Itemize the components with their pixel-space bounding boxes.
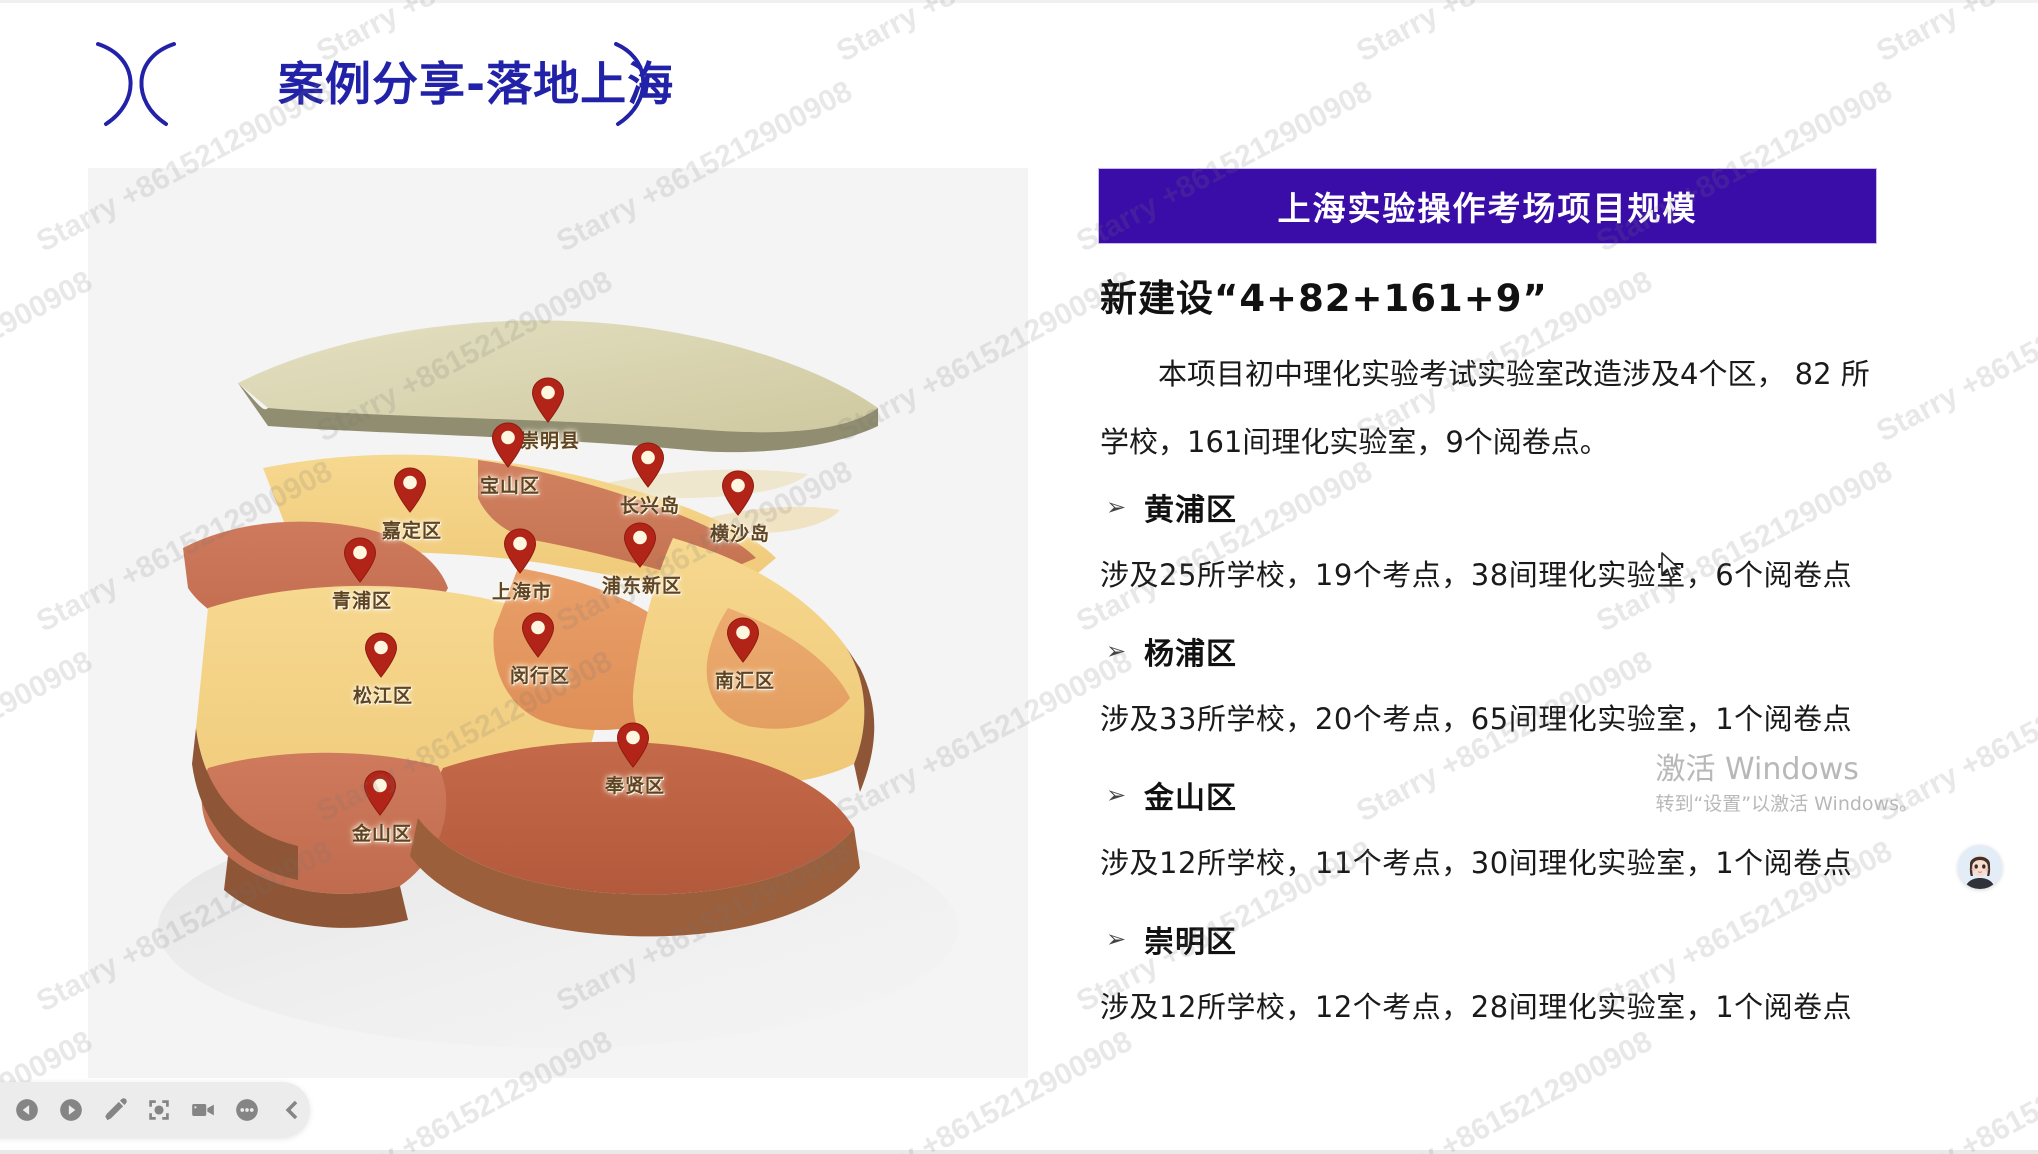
location-pin-icon bbox=[363, 770, 397, 816]
x-decoration-icon bbox=[88, 40, 198, 128]
map-label-南汇区: 南汇区 bbox=[715, 666, 775, 693]
section-banner: 上海实验操作考场项目规模 bbox=[1098, 168, 1877, 244]
bullet-arrow-icon: ➢ bbox=[1098, 639, 1144, 663]
watermark-text: Starry +8615212900908 bbox=[1871, 265, 2038, 450]
map-pin-崇明县[interactable] bbox=[531, 377, 565, 423]
pen-icon bbox=[102, 1097, 128, 1123]
map-pin-闵行区[interactable] bbox=[521, 612, 555, 658]
avatar-woman-icon bbox=[1958, 845, 2002, 889]
map-pin-嘉定区[interactable] bbox=[393, 467, 427, 513]
watermark-text: Starry +8615212900908 bbox=[0, 645, 98, 830]
location-pin-icon bbox=[721, 470, 755, 516]
map-label-闵行区: 闵行区 bbox=[510, 661, 570, 688]
map-pin-奉贤区[interactable] bbox=[616, 722, 650, 768]
map-label-宝山区: 宝山区 bbox=[480, 471, 540, 498]
district-name: 崇明区 bbox=[1144, 917, 1237, 961]
district-heading: ➢杨浦区 bbox=[1098, 622, 1888, 680]
location-pin-icon bbox=[521, 612, 555, 658]
page-title: 案例分享-落地上海 bbox=[278, 48, 674, 114]
chevron-left-icon bbox=[278, 1097, 304, 1123]
watermark-text: Starry +8615212900908 bbox=[0, 0, 98, 69]
screenshot-button[interactable] bbox=[142, 1093, 176, 1127]
map-pin-横沙岛[interactable] bbox=[721, 470, 755, 516]
district-detail: 涉及12所学校，11个考点，30间理化实验室，1个阅卷点 bbox=[1098, 824, 1888, 902]
focus-capture-icon bbox=[146, 1097, 172, 1123]
previous-slide-button[interactable] bbox=[10, 1093, 44, 1127]
map-pin-松江区[interactable] bbox=[364, 632, 398, 678]
shanghai-district-map-illustration bbox=[88, 168, 1028, 1078]
district-list: ➢黄浦区涉及25所学校，19个考点，38间理化实验室，6个阅卷点➢杨浦区涉及33… bbox=[1098, 478, 1888, 1054]
map-label-松江区: 松江区 bbox=[353, 681, 413, 708]
watermark-text: Starry +8615212900908 bbox=[1871, 1025, 2038, 1154]
collapse-toolbar-button[interactable] bbox=[274, 1093, 308, 1127]
location-pin-icon bbox=[364, 632, 398, 678]
location-pin-icon bbox=[393, 467, 427, 513]
location-pin-icon bbox=[491, 422, 525, 468]
circle-left-arrow-icon bbox=[14, 1097, 40, 1123]
district-block: ➢崇明区涉及12所学校，12个考点，28间理化实验室，1个阅卷点 bbox=[1098, 910, 1888, 1046]
headline-text: 新建设“4+82+161+9” bbox=[1100, 268, 1548, 322]
annotate-pen-button[interactable] bbox=[98, 1093, 132, 1127]
watermark-text: Starry +8615212900908 bbox=[1871, 645, 2038, 830]
district-detail: 涉及33所学校，20个考点，65间理化实验室，1个阅卷点 bbox=[1098, 680, 1888, 758]
district-block: ➢杨浦区涉及33所学校，20个考点，65间理化实验室，1个阅卷点 bbox=[1098, 622, 1888, 758]
map-pin-南汇区[interactable] bbox=[726, 617, 760, 663]
bullet-arrow-icon: ➢ bbox=[1098, 495, 1144, 519]
location-pin-icon bbox=[503, 528, 537, 574]
district-detail: 涉及25所学校，19个考点，38间理化实验室，6个阅卷点 bbox=[1098, 536, 1888, 614]
map-label-长兴岛: 长兴岛 bbox=[620, 491, 680, 518]
location-pin-icon bbox=[616, 722, 650, 768]
shanghai-map-panel: 崇明县 宝山区 长兴岛 横沙岛 嘉定区 青浦区 上海市 浦东新区 闵行区 南汇区… bbox=[88, 168, 1028, 1078]
map-label-奉贤区: 奉贤区 bbox=[605, 771, 665, 798]
district-name: 黄浦区 bbox=[1144, 485, 1237, 529]
location-pin-icon bbox=[531, 377, 565, 423]
map-pin-青浦区[interactable] bbox=[343, 537, 377, 583]
district-block: ➢金山区涉及12所学校，11个考点，30间理化实验室，1个阅卷点 bbox=[1098, 766, 1888, 902]
presentation-slide: 案例分享-落地上海 bbox=[0, 0, 2038, 1154]
bullet-arrow-icon: ➢ bbox=[1098, 783, 1144, 807]
district-detail: 涉及12所学校，12个考点，28间理化实验室，1个阅卷点 bbox=[1098, 968, 1888, 1046]
map-label-青浦区: 青浦区 bbox=[332, 586, 392, 613]
video-camera-icon bbox=[190, 1097, 216, 1123]
next-slide-button[interactable] bbox=[54, 1093, 88, 1127]
map-pin-宝山区[interactable] bbox=[491, 422, 525, 468]
map-label-金山区: 金山区 bbox=[352, 819, 412, 846]
map-pin-长兴岛[interactable] bbox=[631, 442, 665, 488]
map-label-浦东新区: 浦东新区 bbox=[602, 571, 682, 598]
district-heading: ➢黄浦区 bbox=[1098, 478, 1888, 536]
bullet-arrow-icon: ➢ bbox=[1098, 927, 1144, 951]
district-name: 金山区 bbox=[1144, 773, 1237, 817]
map-pin-浦东新区[interactable] bbox=[623, 522, 657, 568]
location-pin-icon bbox=[631, 442, 665, 488]
watermark-text: Starry +8615212900908 bbox=[1351, 0, 1658, 69]
record-video-button[interactable] bbox=[186, 1093, 220, 1127]
avatar[interactable] bbox=[1958, 845, 2002, 889]
district-heading: ➢崇明区 bbox=[1098, 910, 1888, 968]
watermark-text: Starry +8615212900908 bbox=[0, 265, 98, 450]
district-block: ➢黄浦区涉及25所学校，19个考点，38间理化实验室，6个阅卷点 bbox=[1098, 478, 1888, 614]
slide-title-area: 案例分享-落地上海 bbox=[88, 38, 648, 130]
location-pin-icon bbox=[343, 537, 377, 583]
slide-top-border bbox=[0, 0, 2038, 3]
ellipsis-icon bbox=[234, 1097, 260, 1123]
project-scale-content: 上海实验操作考场项目规模 新建设“4+82+161+9” 本项目初中理化实验考试… bbox=[1098, 168, 1888, 1108]
map-pin-金山区[interactable] bbox=[363, 770, 397, 816]
more-options-button[interactable] bbox=[230, 1093, 264, 1127]
section-banner-title: 上海实验操作考场项目规模 bbox=[1278, 182, 1698, 230]
map-label-崇明县: 崇明县 bbox=[520, 426, 580, 453]
district-name: 杨浦区 bbox=[1144, 629, 1237, 673]
map-label-嘉定区: 嘉定区 bbox=[382, 516, 442, 543]
watermark-text: Starry +8615212900908 bbox=[1871, 0, 2038, 69]
circle-right-arrow-icon bbox=[58, 1097, 84, 1123]
map-label-上海市: 上海市 bbox=[492, 577, 552, 604]
map-stage: 崇明县 宝山区 长兴岛 横沙岛 嘉定区 青浦区 上海市 浦东新区 闵行区 南汇区… bbox=[88, 168, 1028, 1078]
location-pin-icon bbox=[726, 617, 760, 663]
presentation-toolbar[interactable] bbox=[0, 1082, 310, 1138]
watermark-text: Starry +8615212900908 bbox=[831, 0, 1138, 69]
slide-bottom-border bbox=[0, 1150, 2038, 1154]
intro-paragraph: 本项目初中理化实验考试实验室改造涉及4个区， 82 所学校，161间理化实验室，… bbox=[1100, 340, 1890, 476]
location-pin-icon bbox=[623, 522, 657, 568]
map-label-横沙岛: 横沙岛 bbox=[710, 519, 770, 546]
district-heading: ➢金山区 bbox=[1098, 766, 1888, 824]
map-pin-上海市[interactable] bbox=[503, 528, 537, 574]
